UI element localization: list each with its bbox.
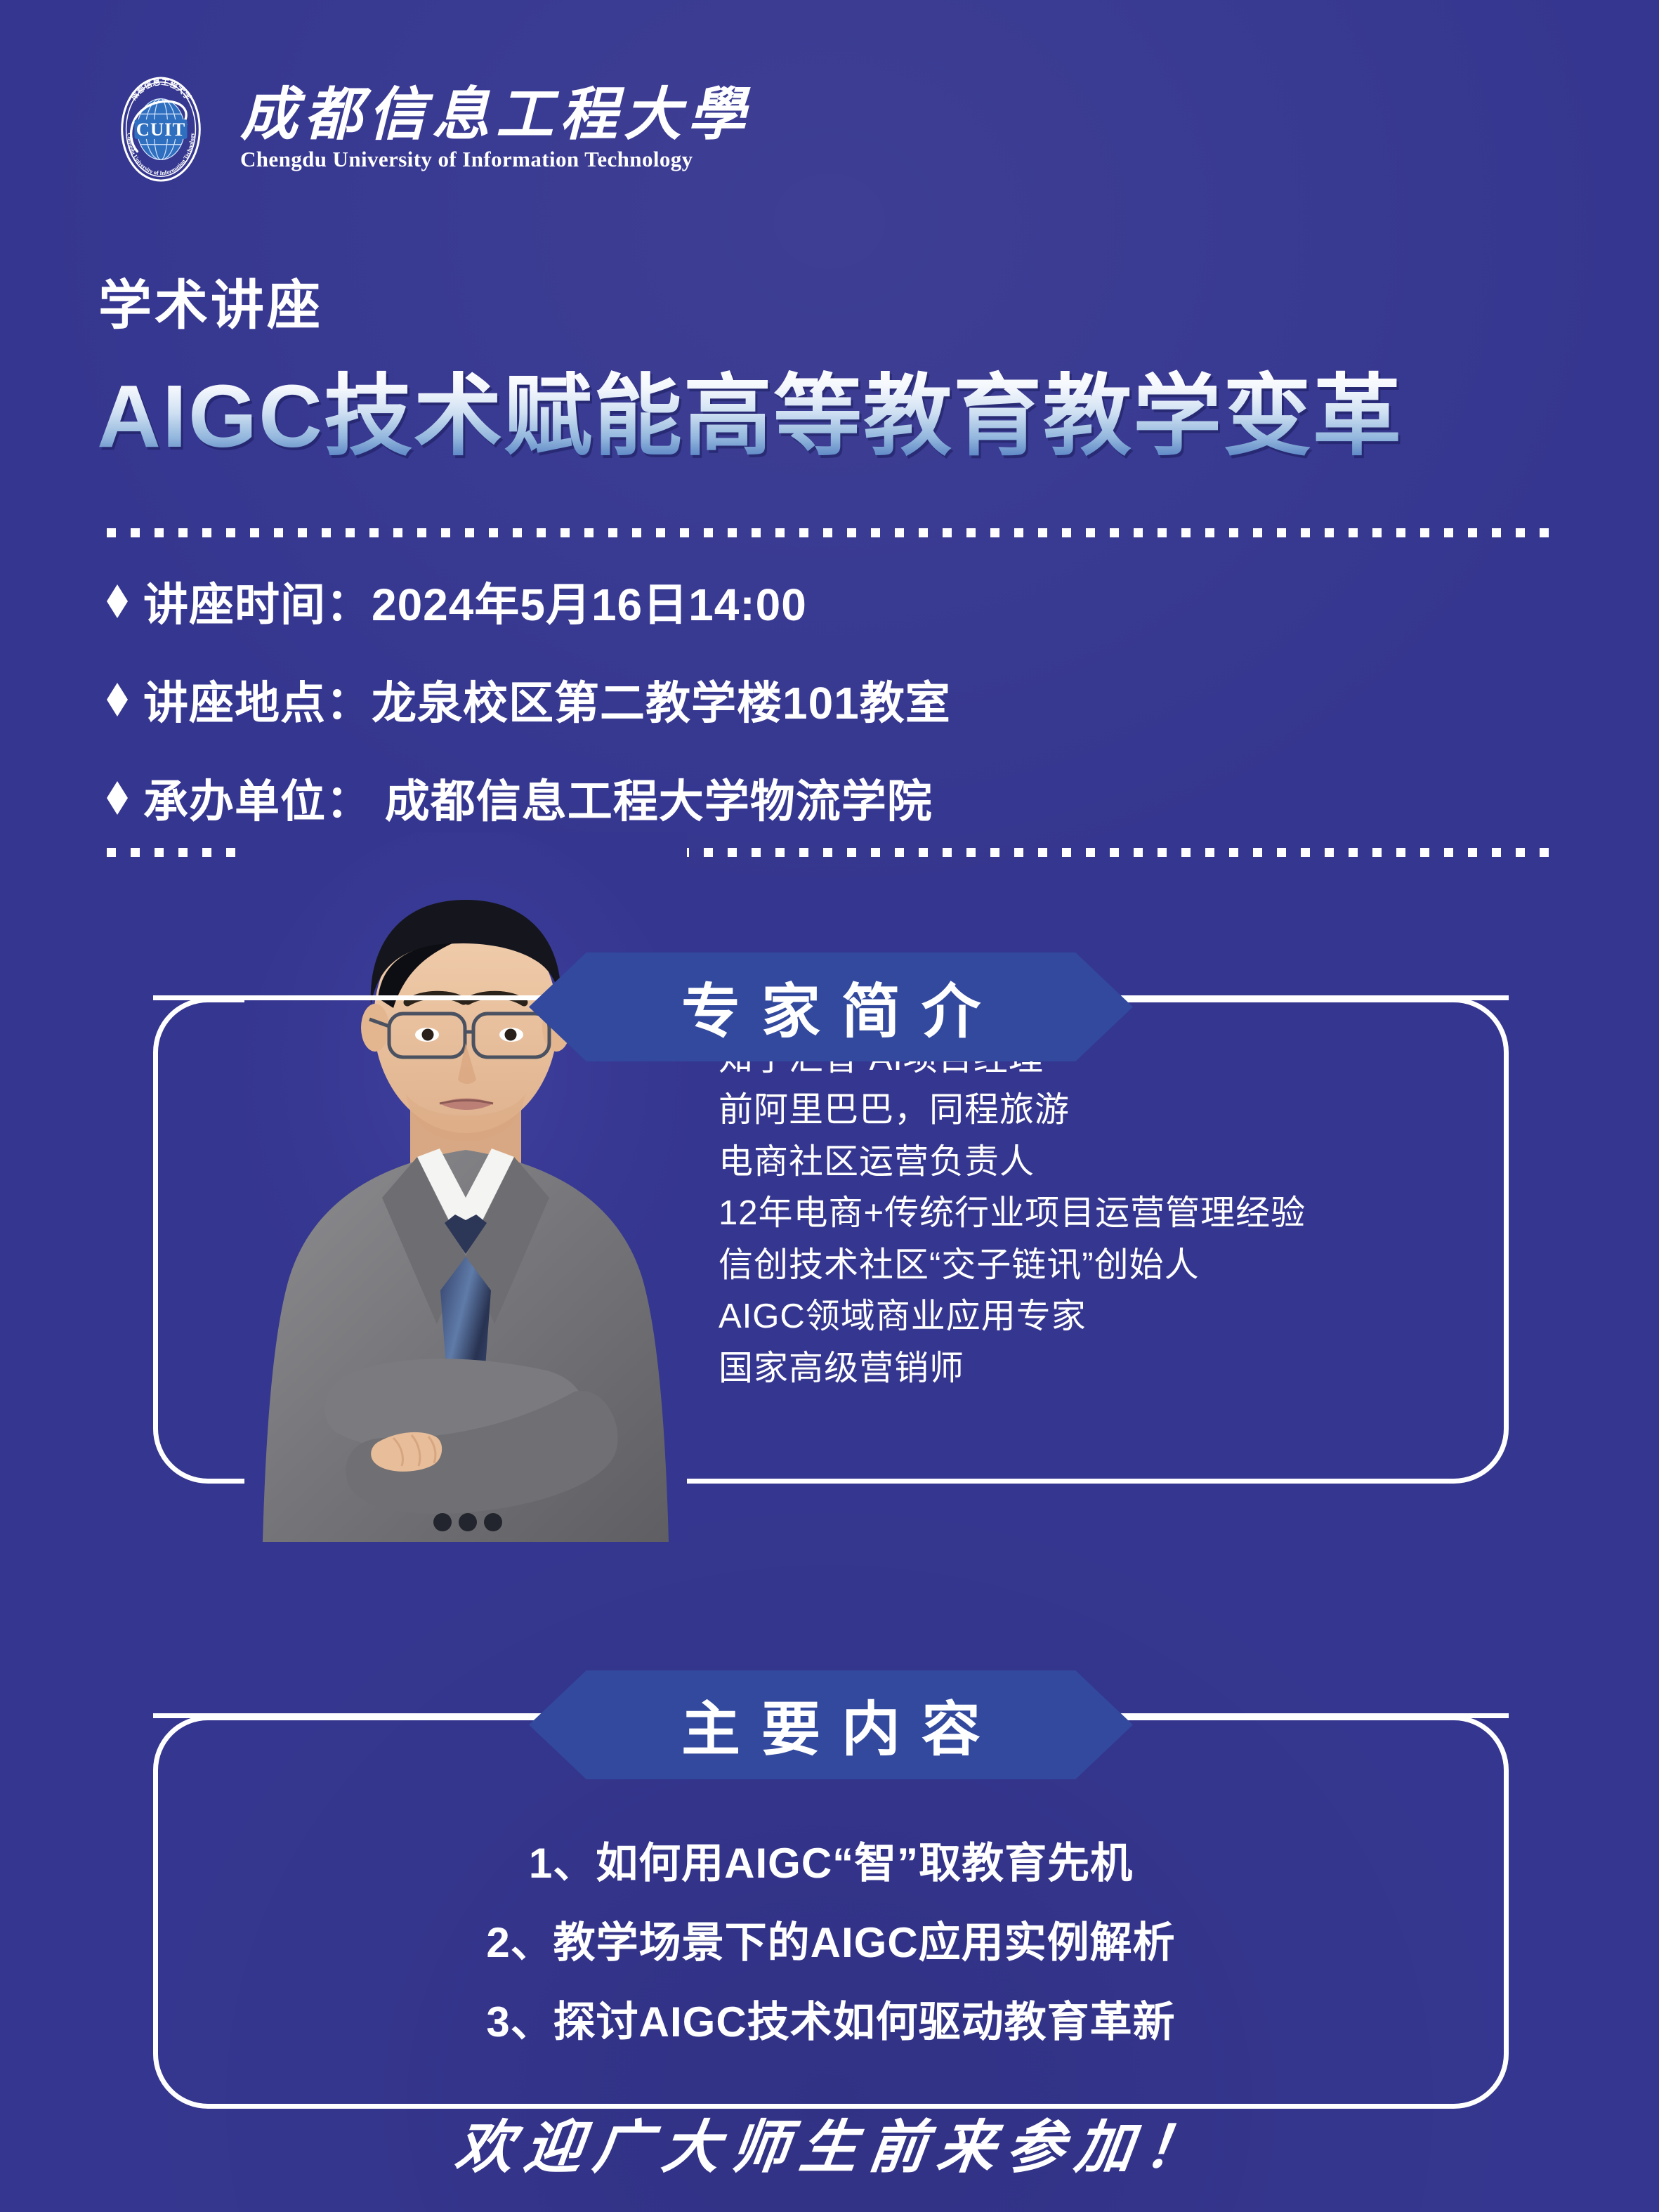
info-row-location-text: 讲座地点：龙泉校区第二教学楼101教室 bbox=[143, 667, 951, 732]
content-item: 1、如何用AIGC“智”取教育先机 bbox=[529, 1829, 1133, 1890]
university-name-cn: 成都信息工程大學 bbox=[240, 86, 752, 144]
expert-bio-list: 知了汇智 AI项目经理 前阿里巴巴，同程旅游 电商社区运营负责人 12年电商+传… bbox=[719, 1041, 1306, 1387]
university-name-en: Chengdu University of Information Techno… bbox=[240, 147, 752, 172]
dotted-divider-top bbox=[107, 528, 1557, 537]
content-banner-label: 主要内容 bbox=[660, 1682, 1002, 1767]
expert-section-banner: 专家简介 bbox=[529, 953, 1133, 1061]
bio-line: 国家高级营销师 bbox=[719, 1351, 1306, 1387]
bio-line: 电商社区运营负责人 bbox=[719, 1144, 1306, 1180]
svg-text:CUIT: CUIT bbox=[136, 119, 186, 140]
expert-banner-stub-right bbox=[1115, 995, 1509, 1000]
expert-banner-label: 专家简介 bbox=[660, 964, 1002, 1049]
bio-line: 前阿里巴巴，同程旅游 bbox=[719, 1092, 1306, 1128]
footer-invitation: 欢迎广大师生前来参加！ bbox=[0, 2100, 1659, 2184]
content-item: 3、探讨AIGC技术如何驱动教育革新 bbox=[486, 1988, 1175, 2049]
diamond-bullet-icon bbox=[107, 683, 128, 716]
speaker-portrait bbox=[244, 832, 687, 1542]
cuit-globe-logo-icon: CUIT 成都信息工程大学 Chengdu University of Info… bbox=[105, 74, 216, 185]
poster-kicker: 学术讲座 bbox=[98, 280, 323, 333]
lecture-poster: CUIT 成都信息工程大学 Chengdu University of Info… bbox=[0, 0, 1659, 2212]
bio-line: 12年电商+传统行业项目运营管理经验 bbox=[719, 1196, 1306, 1231]
content-section-banner: 主要内容 bbox=[529, 1670, 1133, 1779]
diamond-bullet-icon bbox=[107, 781, 128, 815]
info-row-organizer-text: 承办单位： 成都信息工程大学物流学院 bbox=[143, 766, 933, 830]
content-banner-stub-right bbox=[1115, 1713, 1509, 1718]
university-name-block: 成都信息工程大學 Chengdu University of Informati… bbox=[240, 86, 752, 172]
expert-card-content: 苏老师 bbox=[153, 997, 1509, 1484]
diamond-bullet-icon bbox=[107, 584, 128, 618]
bio-line: 信创技术社区“交子链讯”创始人 bbox=[719, 1248, 1306, 1283]
svg-text:成都信息工程大学: 成都信息工程大学 bbox=[129, 77, 193, 102]
info-row-location: 讲座地点：龙泉校区第二教学楼101教室 bbox=[107, 667, 951, 732]
content-item: 2、教学场景下的AIGC应用实例解析 bbox=[486, 1909, 1175, 1970]
info-row-organizer: 承办单位： 成都信息工程大学物流学院 bbox=[107, 766, 951, 830]
info-row-time: 讲座时间：2024年5月16日14:00 bbox=[107, 569, 951, 634]
page-title: AIGC技术赋能高等教育教学变革 bbox=[97, 369, 1403, 464]
lecture-info-list: 讲座时间：2024年5月16日14:00 讲座地点：龙泉校区第二教学楼101教室… bbox=[107, 569, 951, 830]
info-row-time-text: 讲座时间：2024年5月16日14:00 bbox=[143, 569, 807, 634]
content-banner-stub-left bbox=[153, 1713, 546, 1718]
university-logo-row: CUIT 成都信息工程大学 Chengdu University of Info… bbox=[105, 74, 752, 185]
bio-line: AIGC领域商业应用专家 bbox=[719, 1299, 1306, 1335]
expert-banner-stub-left bbox=[153, 995, 546, 1000]
